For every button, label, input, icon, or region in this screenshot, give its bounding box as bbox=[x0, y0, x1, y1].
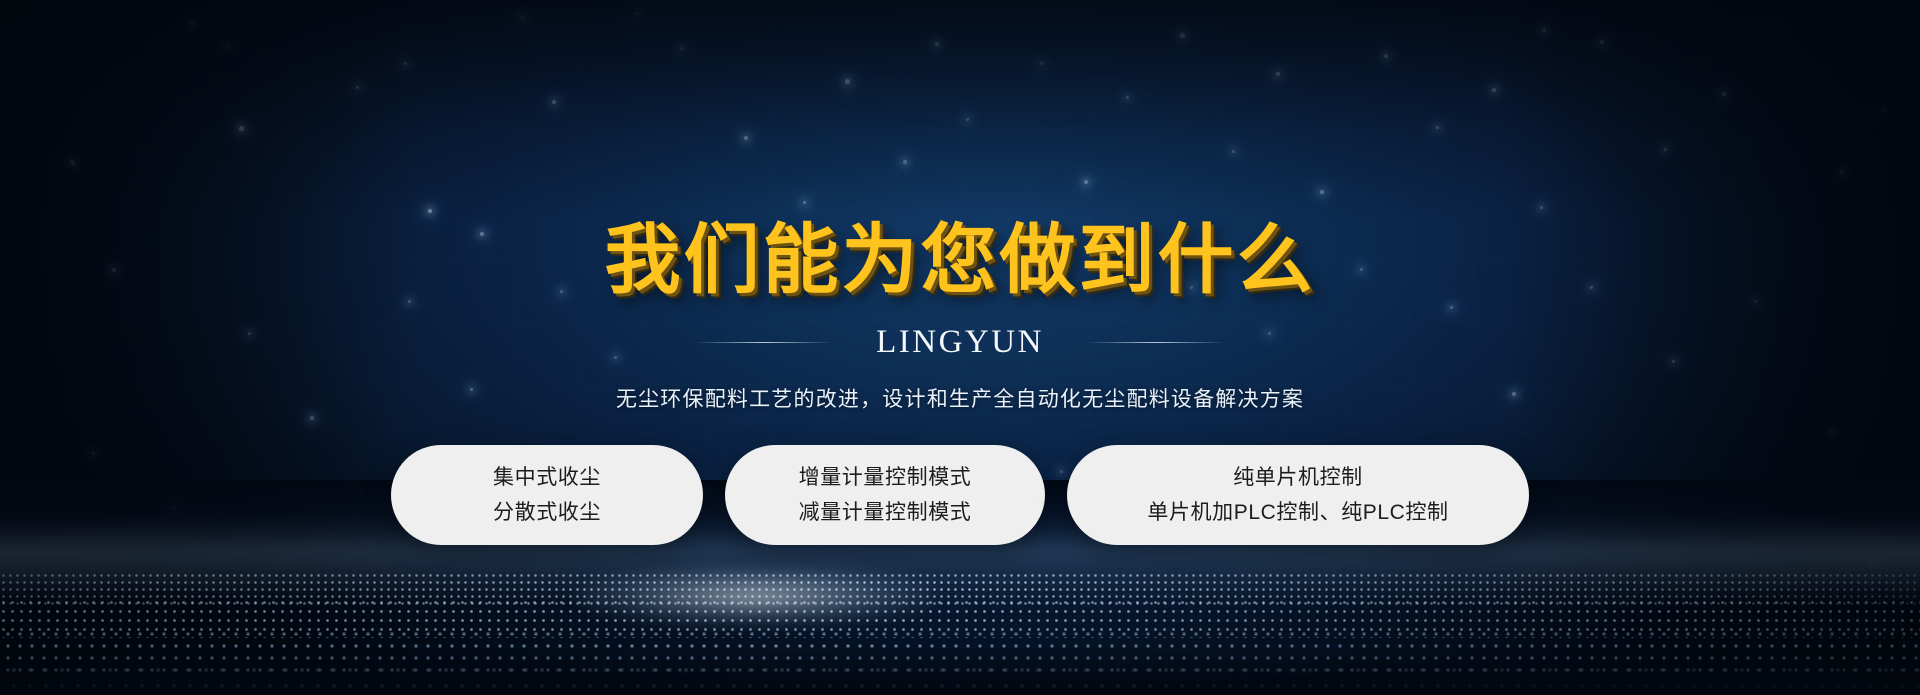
feature-pill[interactable]: 增量计量控制模式 减量计量控制模式 bbox=[725, 445, 1045, 545]
feature-pill-group: 集中式收尘 分散式收尘 增量计量控制模式 减量计量控制模式 纯单片机控制 单片机… bbox=[391, 445, 1529, 545]
decorative-rule-right bbox=[1090, 342, 1222, 343]
feature-pill-line: 集中式收尘 bbox=[493, 467, 601, 488]
brand-row: LINGYUN bbox=[698, 324, 1222, 361]
feature-pill-line: 纯单片机控制 bbox=[1233, 467, 1363, 488]
hero-banner: 我们能为您做到什么 LINGYUN 无尘环保配料工艺的改进，设计和生产全自动化无… bbox=[0, 0, 1920, 695]
banner-tagline: 无尘环保配料工艺的改进，设计和生产全自动化无尘配料设备解决方案 bbox=[616, 383, 1304, 413]
brand-name: LINGYUN bbox=[876, 324, 1044, 361]
feature-pill-line: 分散式收尘 bbox=[493, 502, 601, 523]
feature-pill[interactable]: 纯单片机控制 单片机加PLC控制、纯PLC控制 bbox=[1067, 445, 1529, 545]
feature-pill-line: 减量计量控制模式 bbox=[799, 502, 972, 523]
decorative-rule-left bbox=[698, 342, 830, 343]
feature-pill-line: 单片机加PLC控制、纯PLC控制 bbox=[1147, 502, 1448, 523]
feature-pill-line: 增量计量控制模式 bbox=[799, 467, 972, 488]
banner-content: 我们能为您做到什么 LINGYUN 无尘环保配料工艺的改进，设计和生产全自动化无… bbox=[0, 0, 1920, 695]
feature-pill[interactable]: 集中式收尘 分散式收尘 bbox=[391, 445, 703, 545]
banner-headline: 我们能为您做到什么 bbox=[605, 222, 1316, 298]
